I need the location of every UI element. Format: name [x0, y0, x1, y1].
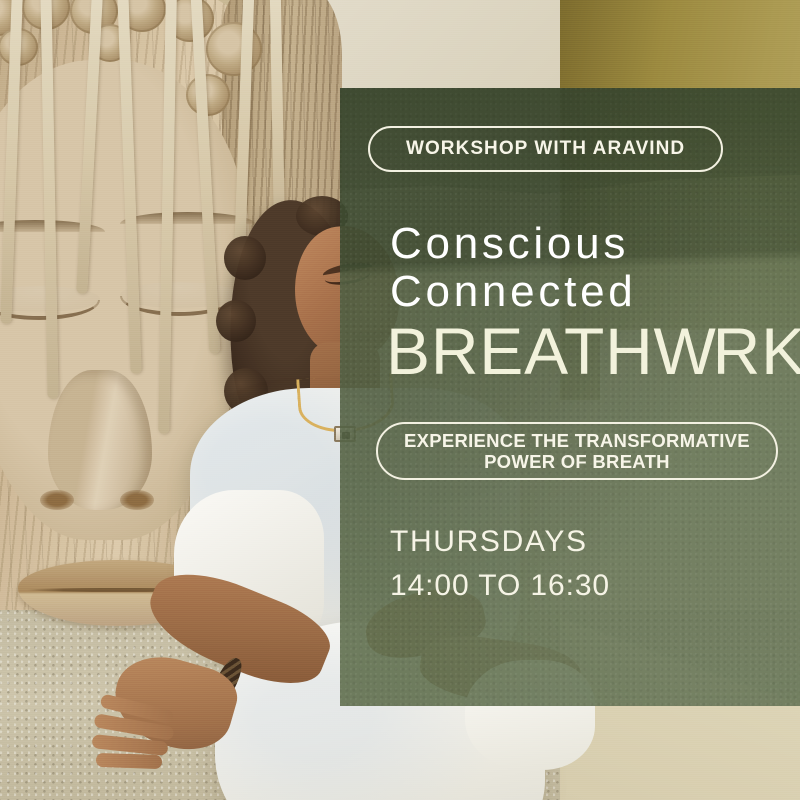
buddha-nostril-left — [40, 490, 74, 510]
schedule-block: THURSDAYS 14:00 TO 16:30 — [390, 520, 800, 607]
poster-canvas: WORKSHOP WITH ARAVIND Conscious Connecte… — [0, 0, 800, 800]
headline-line-1: Conscious — [390, 220, 800, 268]
brand-wordmark: BREATHW RK — [386, 317, 800, 386]
headline-line-2: Connected — [390, 268, 800, 316]
headline: Conscious Connected — [390, 220, 800, 315]
brand-text-before-logo: BREATHW — [386, 317, 717, 386]
panel-content: WORKSHOP WITH ARAVIND Conscious Connecte… — [340, 88, 800, 706]
workshop-badge-label: WORKSHOP WITH ARAVIND — [406, 138, 685, 160]
tagline-line-1: EXPERIENCE THE TRANSFORMATIVE — [404, 430, 750, 451]
green-overlay-panel: WORKSHOP WITH ARAVIND Conscious Connecte… — [340, 88, 800, 706]
brand-text-after-logo: RK — [713, 317, 800, 386]
schedule-day: THURSDAYS — [390, 520, 800, 564]
schedule-time: 14:00 TO 16:30 — [390, 564, 800, 608]
tagline-line-2: POWER OF BREATH — [404, 451, 750, 472]
workshop-badge[interactable]: WORKSHOP WITH ARAVIND — [368, 126, 723, 172]
tagline-badge[interactable]: EXPERIENCE THE TRANSFORMATIVE POWER OF B… — [376, 422, 778, 480]
